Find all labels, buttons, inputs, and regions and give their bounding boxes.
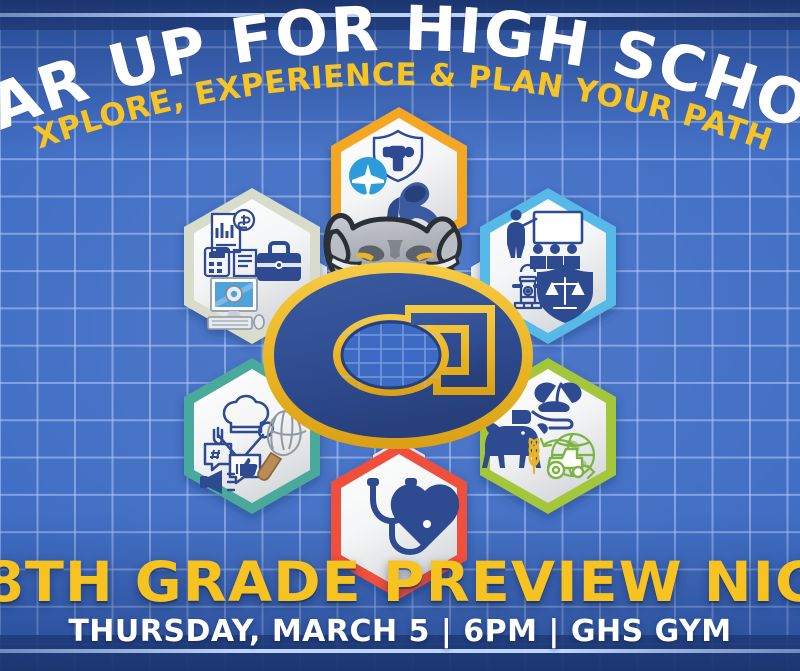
background-vignette	[0, 0, 800, 671]
poster-canvas: GEAR UP FOR HIGH SCHOOL EXPLORE, EXPERIE…	[0, 0, 800, 671]
